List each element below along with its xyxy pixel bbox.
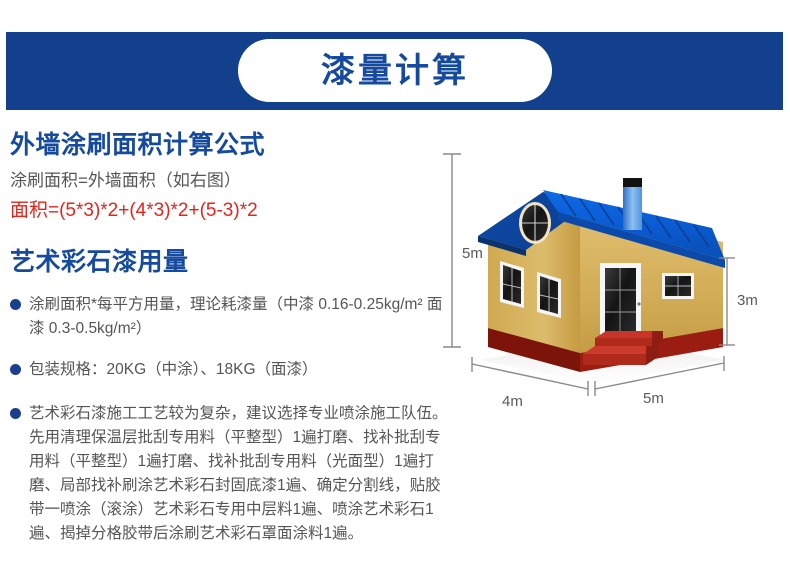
bullet-dot-icon xyxy=(10,408,21,419)
area-formula: 面积=(5*3)*2+(4*3)*2+(5-3)*2 xyxy=(10,200,450,223)
usage-bullet-1: 涂刷面积*每平方用量，理论耗漆量（中漆 0.16-0.25kg/m² 面漆 0.… xyxy=(29,293,450,341)
dimension-label-height-left: 5m xyxy=(462,245,483,262)
usage-bullet-2: 包装规格：20KG（中涂）、18KG（面漆） xyxy=(29,358,318,382)
list-item: 艺术彩石漆施工工艺较为复杂，建议选择专业喷涂施工队伍。先用清理保温层批刮专用料（… xyxy=(10,402,450,546)
window-gable-2 xyxy=(537,272,561,318)
list-item: 包装规格：20KG（中涂）、18KG（面漆） xyxy=(10,358,450,382)
content-column: 外墙涂刷面积计算公式 涂刷面积=外墙面积（如右图） 面积=(5*3)*2+(4*… xyxy=(10,132,450,546)
gable-vent-window xyxy=(519,202,551,244)
formula-subtitle: 涂刷面积=外墙面积（如右图） xyxy=(10,170,450,191)
dimension-label-depth-front: 4m xyxy=(502,393,523,410)
usage-section-heading: 艺术彩石漆用量 xyxy=(10,249,450,277)
dimension-label-height-right: 3m xyxy=(737,292,758,309)
formula-section-heading: 外墙涂刷面积计算公式 xyxy=(10,132,450,160)
list-item: 涂刷面积*每平方用量，理论耗漆量（中漆 0.16-0.25kg/m² 面漆 0.… xyxy=(10,293,450,341)
bullet-dot-icon xyxy=(10,299,21,310)
window-gable-1 xyxy=(500,261,524,308)
dimension-label-width-front: 5m xyxy=(643,390,664,407)
front-door xyxy=(600,263,641,338)
usage-bullet-3: 艺术彩石漆施工工艺较为复杂，建议选择专业喷涂施工队伍。先用清理保温层批刮专用料（… xyxy=(29,402,450,546)
page-title-pill: 漆量计算 xyxy=(238,39,552,102)
bullet-dot-icon xyxy=(10,364,21,375)
page-title: 漆量计算 xyxy=(321,54,469,88)
house-diagram: 5m xyxy=(440,132,790,412)
window-front xyxy=(662,273,694,299)
chimney xyxy=(623,178,642,230)
dimension-height-left xyxy=(443,154,461,347)
